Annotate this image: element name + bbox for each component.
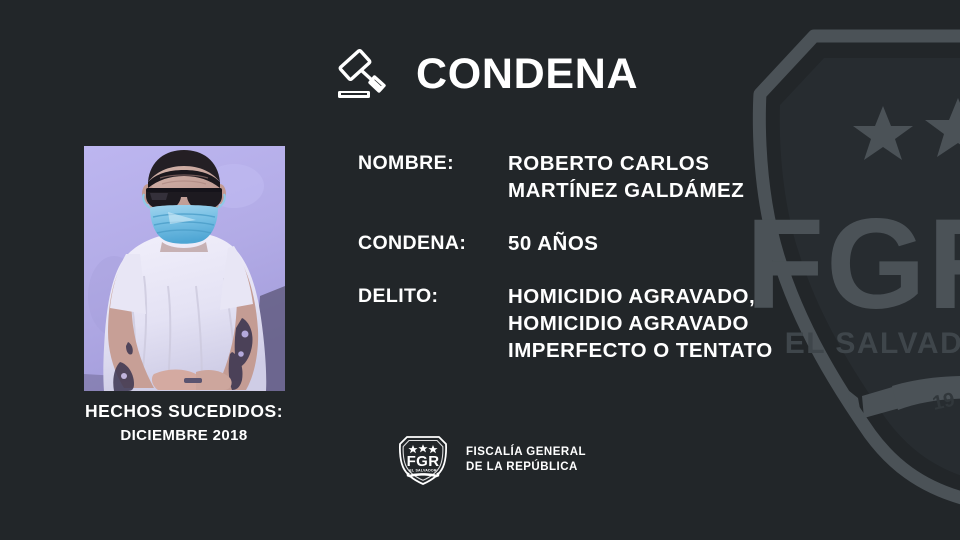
- detail-label-nombre: NOMBRE:: [358, 150, 508, 177]
- caption-title: HECHOS SUCEDIDOS:: [24, 400, 344, 422]
- detail-value-line: 50 AÑOS: [508, 230, 598, 257]
- detail-value-line: IMPERFECTO O TENTATO: [508, 337, 773, 364]
- badge-country: EL SALVADOR: [409, 469, 437, 473]
- card-header: CONDENA: [336, 40, 638, 108]
- caption-date: DICIEMBRE 2018: [24, 425, 344, 447]
- detail-label-condena: CONDENA:: [358, 230, 508, 257]
- watermark-year: 19: [930, 389, 956, 415]
- detail-value-line: HOMICIDIO AGRAVADO: [508, 310, 773, 337]
- detail-value-line: MARTÍNEZ GALDÁMEZ: [508, 177, 744, 204]
- fgr-footer-logo: FGR EL SALVADOR FISCALÍA GENERAL DE LA R…: [394, 432, 586, 488]
- event-caption: HECHOS SUCEDIDOS: DICIEMBRE 2018: [24, 400, 344, 447]
- fgr-footer-text: FISCALÍA GENERAL DE LA REPÚBLICA: [466, 445, 586, 475]
- condena-card: FGR EL SALVADOR 19: [0, 0, 960, 540]
- detail-row-nombre: NOMBRE: ROBERTO CARLOS MARTÍNEZ GALDÁMEZ: [358, 150, 828, 204]
- badge-initials: FGR: [407, 453, 440, 470]
- detail-value-condena: 50 AÑOS: [508, 230, 598, 257]
- detail-value-delito: HOMICIDIO AGRAVADO, HOMICIDIO AGRAVADO I…: [508, 283, 773, 364]
- footer-line-1: FISCALÍA GENERAL: [466, 445, 586, 460]
- detail-list: NOMBRE: ROBERTO CARLOS MARTÍNEZ GALDÁMEZ…: [358, 150, 828, 364]
- page-title: CONDENA: [416, 53, 638, 96]
- detail-row-delito: DELITO: HOMICIDIO AGRAVADO, HOMICIDIO AG…: [358, 283, 828, 364]
- gavel-icon: [336, 46, 394, 102]
- detail-row-condena: CONDENA: 50 AÑOS: [358, 230, 828, 257]
- footer-line-2: DE LA REPÚBLICA: [466, 460, 586, 475]
- fgr-badge-icon: FGR EL SALVADOR: [394, 432, 452, 488]
- detail-label-delito: DELITO:: [358, 283, 508, 310]
- detail-value-nombre: ROBERTO CARLOS MARTÍNEZ GALDÁMEZ: [508, 150, 744, 204]
- mugshot-photo-image: [84, 146, 285, 391]
- detail-value-line: HOMICIDIO AGRAVADO,: [508, 283, 773, 310]
- mugshot-photo: [84, 146, 285, 391]
- detail-value-line: ROBERTO CARLOS: [508, 150, 744, 177]
